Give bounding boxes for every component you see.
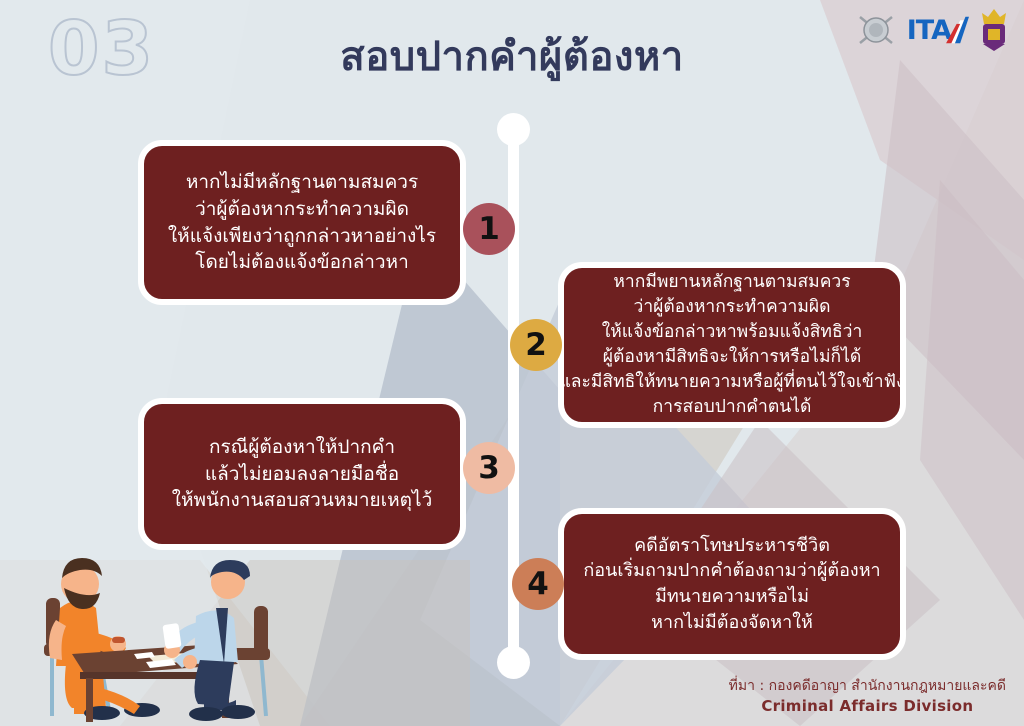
step-4-line-3: มีทนายความหรือไม่ (655, 584, 809, 610)
step-2-line-5: และมีสิทธิให้ทนายความหรือผู้ที่ตนไว้ใจเข… (559, 370, 904, 395)
step-1-line-1: หากไม่มีหลักฐานตามสมควร (186, 169, 418, 196)
step-2-box[interactable]: หากมีพยานหลักฐานตามสมควร ว่าผู้ต้องหากระ… (558, 262, 906, 428)
footer-source: ที่มา : กองคดีอาญา สำนักงานกฎหมายและคดี … (729, 676, 1006, 718)
step-4-line-1: คดีอัตราโทษประหารชีวิต (634, 533, 830, 559)
footer-source-thai: ที่มา : กองคดีอาญา สำนักงานกฎหมายและคดี (729, 676, 1006, 696)
royal-garuda-emblem-logo-icon (978, 8, 1010, 52)
timeline-end-dot (497, 646, 530, 679)
step-3-badge[interactable]: 3 (463, 442, 515, 494)
step-2-line-4: ผู้ต้องหามีสิทธิจะให้การหรือไม่ก็ได้ (603, 345, 862, 370)
logo-group: ITA (854, 8, 1010, 52)
step-4-line-4: หากไม่มีต้องจัดหาให้ (651, 610, 813, 636)
step-1-line-4: โดยไม่ต้องแจ้งข้อกล่าวหา (195, 249, 409, 276)
ita-logo: ITA (907, 13, 969, 47)
step-3-line-1: กรณีผู้ต้องหาให้ปากคำ (209, 434, 395, 461)
step-4-line-2: ก่อนเริ่มถามปากคำต้องถามว่าผู้ต้องหา (583, 558, 880, 584)
step-2-line-3: ให้แจ้งข้อกล่าวหาพร้อมแจ้งสิทธิว่า (602, 320, 863, 345)
interrogation-scene-illustration (0, 536, 300, 726)
step-4-box[interactable]: คดีอัตราโทษประหารชีวิต ก่อนเริ่มถามปากคำ… (558, 508, 906, 660)
step-2-badge[interactable]: 2 (510, 319, 562, 371)
step-1-badge[interactable]: 1 (463, 203, 515, 255)
step-3-line-3: ให้พนักงานสอบสวนหมายเหตุไว้ (172, 487, 433, 514)
step-1-line-3: ให้แจ้งเพียงว่าถูกกล่าวหาอย่างไร (168, 223, 436, 250)
police-emblem-logo-icon (854, 9, 898, 51)
step-1-line-2: ว่าผู้ต้องหากระทำความผิด (195, 196, 409, 223)
step-2-line-1: หากมีพยานหลักฐานตามสมควร (613, 270, 850, 295)
step-3-box[interactable]: กรณีผู้ต้องหาให้ปากคำ แล้วไม่ยอมลงลายมือ… (138, 398, 466, 550)
step-1-box[interactable]: หากไม่มีหลักฐานตามสมควร ว่าผู้ต้องหากระท… (138, 140, 466, 305)
step-2-line-2: ว่าผู้ต้องหากระทำความผิด (634, 295, 831, 320)
step-4-badge[interactable]: 4 (512, 558, 564, 610)
step-2-line-6: การสอบปากคำตนได้ (653, 395, 812, 420)
timeline-start-dot (497, 113, 530, 146)
footer-source-english: Criminal Affairs Division (729, 696, 1006, 718)
step-3-line-2: แล้วไม่ยอมลงลายมือชื่อ (205, 461, 399, 488)
slide-root: 03 สอบปากคำผู้ต้องหา ITA (0, 0, 1024, 726)
